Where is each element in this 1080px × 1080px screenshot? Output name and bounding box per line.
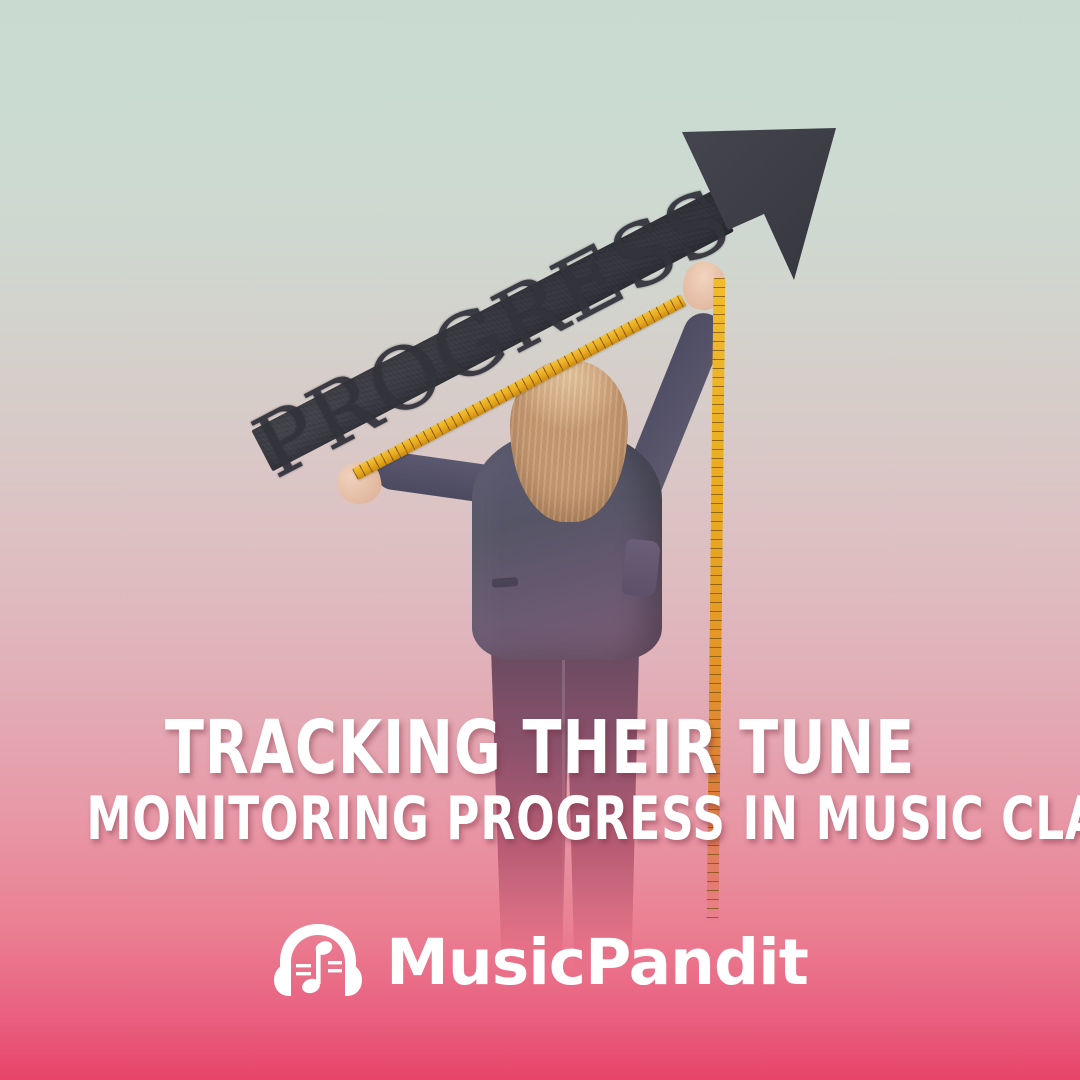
- poster-canvas: PROGRESS TRACKING THEIR TUNE MONITORING …: [0, 0, 1080, 1080]
- jacket-pocket: [492, 577, 519, 588]
- page-subtitle: MONITORING PROGRESS IN MUSIC CLASS: [86, 792, 993, 847]
- title-block: TRACKING THEIR TUNE MONITORING PROGRESS …: [0, 714, 1080, 847]
- headphones-music-note-icon: [272, 920, 364, 1004]
- brand-lockup: MusicPandit: [0, 920, 1080, 1004]
- photo-composition: PROGRESS: [0, 0, 1080, 1080]
- jacket-flap: [621, 538, 661, 597]
- page-title: TRACKING THEIR TUNE: [76, 714, 1005, 782]
- brand-name: MusicPandit: [386, 931, 808, 994]
- businesswoman-figure: [0, 0, 1080, 1080]
